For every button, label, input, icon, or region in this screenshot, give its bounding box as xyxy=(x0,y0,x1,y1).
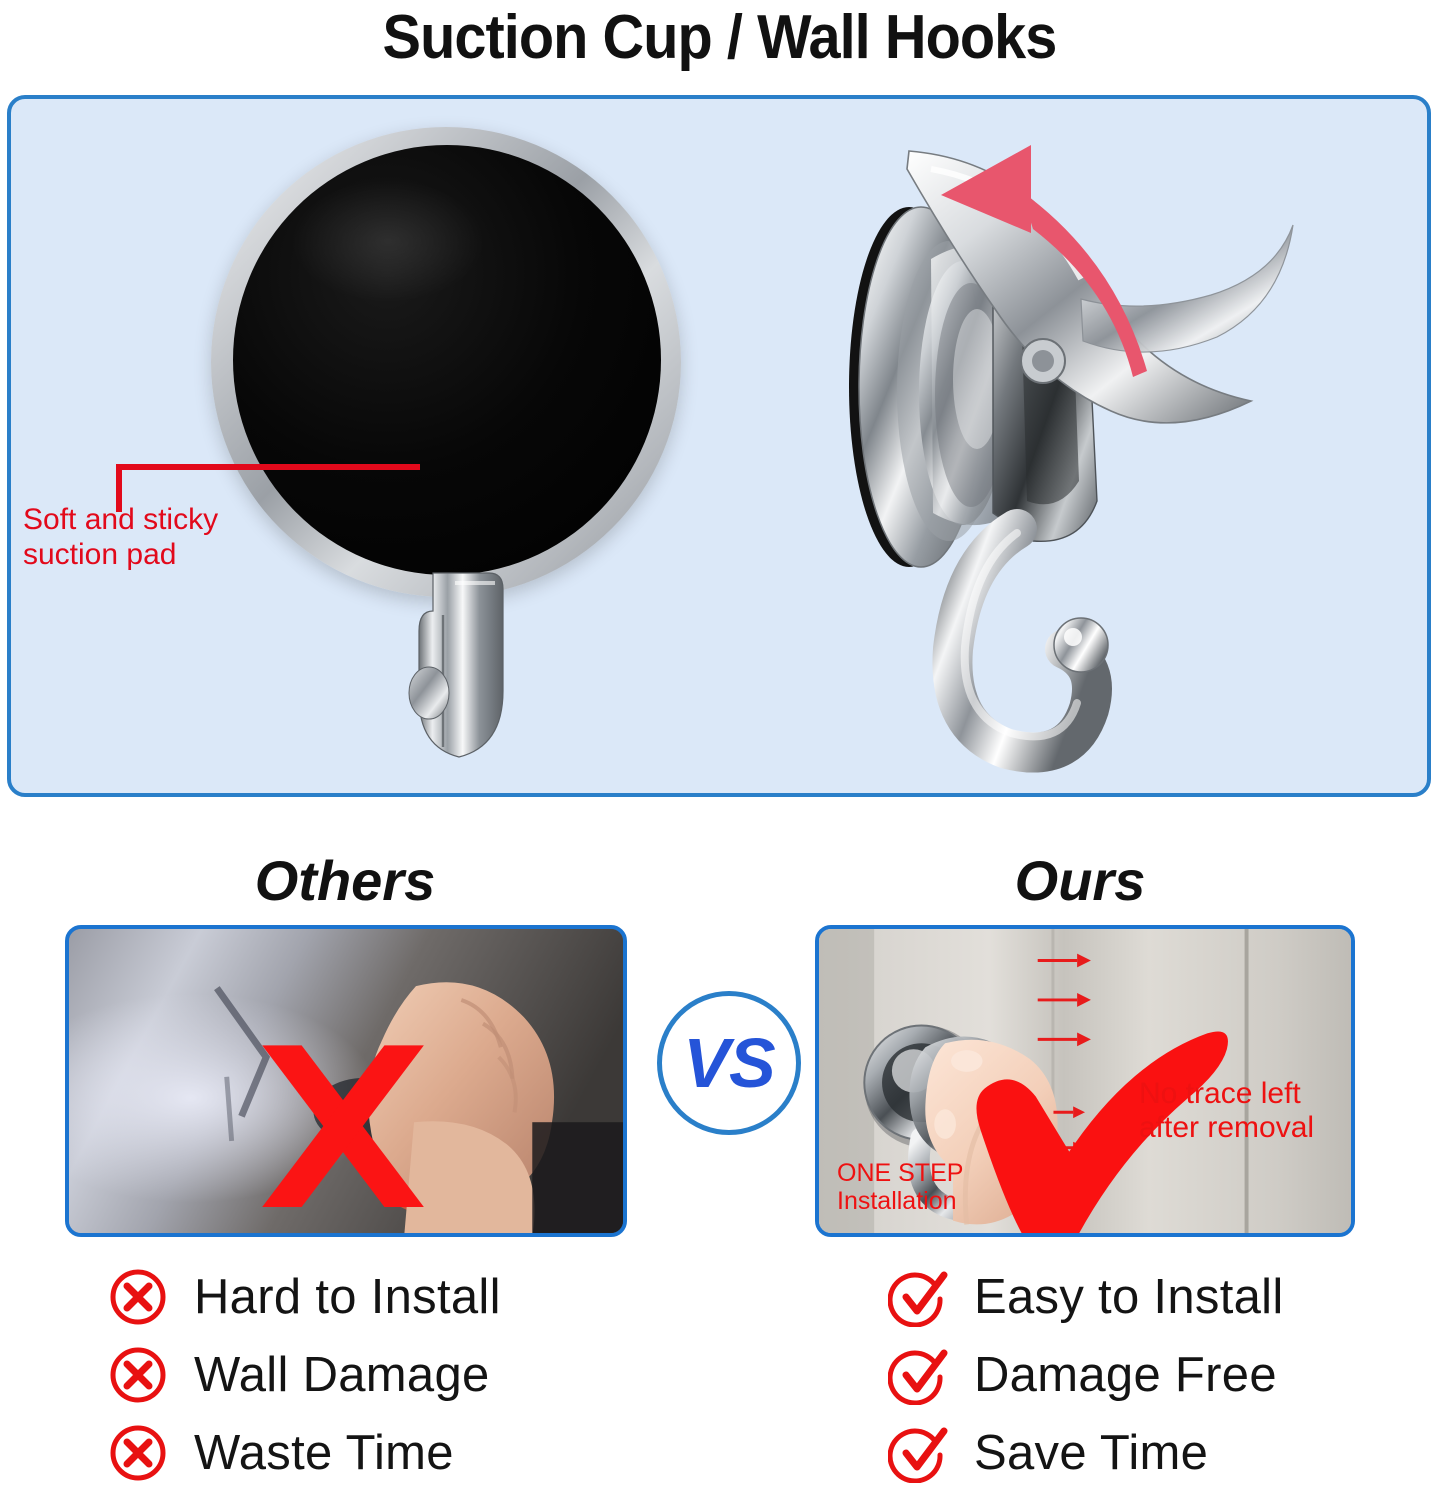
no-trace-line-1: No trace left xyxy=(1139,1077,1314,1111)
vs-badge: VS xyxy=(657,991,801,1135)
annotation-one-step-installation: ONE STEP Installation xyxy=(837,1159,963,1215)
pad-gloss-highlight xyxy=(293,181,483,301)
annotation-line-2: suction pad xyxy=(23,538,283,573)
list-item: Save Time xyxy=(888,1414,1439,1492)
product-image-side-view xyxy=(781,109,1401,789)
photo-panel-others xyxy=(65,925,627,1237)
feature-label: Hard to Install xyxy=(194,1269,501,1325)
annotation-line-1: Soft and sticky xyxy=(23,503,283,538)
one-step-line-1: ONE STEP xyxy=(837,1159,963,1187)
comparison-heading-others: Others xyxy=(0,848,690,913)
annotation-no-trace-left: No trace left after removal xyxy=(1139,1077,1314,1144)
feature-list-ours: Easy to Install Damage Free Save Time xyxy=(888,1258,1439,1492)
circle-cross-icon xyxy=(108,1345,168,1405)
annotation-soft-sticky-pad: Soft and sticky suction pad xyxy=(23,503,283,573)
feature-label: Waste Time xyxy=(194,1425,454,1481)
feature-label: Save Time xyxy=(974,1425,1208,1481)
photo-panel-ours: ONE STEP Installation No trace left afte… xyxy=(815,925,1355,1237)
hero-product-panel: Soft and sticky suction pad xyxy=(7,95,1431,797)
one-step-line-2: Installation xyxy=(837,1187,963,1215)
list-item: Easy to Install xyxy=(888,1258,1439,1336)
feature-label: Wall Damage xyxy=(194,1347,490,1403)
photo-others-content xyxy=(69,929,623,1237)
list-item: Wall Damage xyxy=(108,1336,728,1414)
list-item: Hard to Install xyxy=(108,1258,728,1336)
chrome-hook-small xyxy=(403,571,513,761)
circle-cross-icon xyxy=(108,1267,168,1327)
feature-list-others: Hard to Install Wall Damage Waste Time xyxy=(108,1258,728,1492)
feature-label: Easy to Install xyxy=(974,1269,1284,1325)
comparison-heading-ours: Ours xyxy=(760,848,1400,913)
list-item: Damage Free xyxy=(888,1336,1439,1414)
no-trace-line-2: after removal xyxy=(1139,1111,1314,1145)
circle-cross-icon xyxy=(108,1423,168,1483)
list-item: Waste Time xyxy=(108,1414,728,1492)
circle-check-icon xyxy=(888,1423,948,1483)
feature-label: Damage Free xyxy=(974,1347,1277,1403)
page-title: Suction Cup / Wall Hooks xyxy=(50,2,1388,73)
circle-check-icon xyxy=(888,1267,948,1327)
circle-check-icon xyxy=(888,1345,948,1405)
suction-pad-surface xyxy=(233,145,661,575)
product-image-front-view xyxy=(211,119,711,779)
